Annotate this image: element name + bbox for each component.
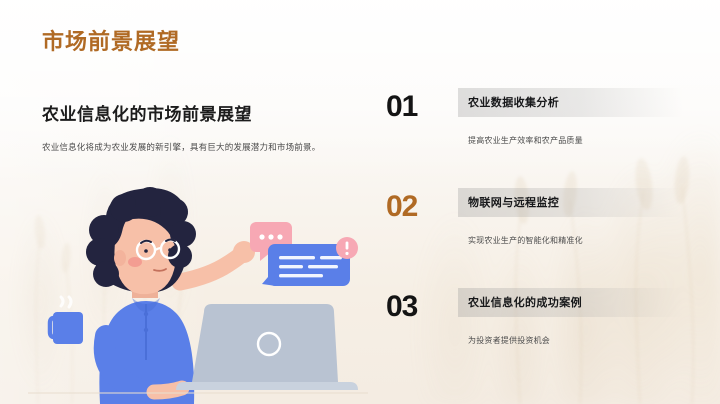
hair-curl <box>93 261 119 287</box>
list-item-title: 农业信息化的成功案例 <box>468 297 582 309</box>
list-item-number: 03 <box>386 292 417 322</box>
list-item[interactable]: 03 农业信息化的成功案例 为投资者提供投资机会 <box>386 288 696 388</box>
lead-description: 农业信息化将成为农业发展的新引擎，具有巨大的发展潜力和市场前景。 <box>42 141 342 155</box>
list-item-title-highlight: 农业数据收集分析 <box>458 88 683 117</box>
shirt-button <box>144 312 148 316</box>
list-item-subtitle: 提高农业生产效率和农产品质量 <box>468 135 696 146</box>
shirt-button <box>144 328 148 332</box>
list-item-number: 01 <box>386 92 417 122</box>
hair-curl <box>170 221 196 247</box>
laptop-icon <box>176 304 358 390</box>
ear <box>114 250 126 266</box>
list-item-title: 物联网与远程监控 <box>468 197 559 209</box>
notification-badge-icon <box>336 237 358 259</box>
list-item-body: 农业信息化的成功案例 为投资者提供投资机会 <box>458 288 696 346</box>
list-item-title-highlight: 物联网与远程监控 <box>458 188 683 217</box>
feature-list: 01 农业数据收集分析 提高农业生产效率和农产品质量 02 物联网与远程监控 实… <box>386 88 696 388</box>
illustration-woman-at-laptop <box>28 186 368 404</box>
list-item[interactable]: 01 农业数据收集分析 提高农业生产效率和农产品质量 <box>386 88 696 188</box>
list-item[interactable]: 02 物联网与远程监控 实现农业生产的智能化和精准化 <box>386 188 696 288</box>
list-item-subtitle: 实现农业生产的智能化和精准化 <box>468 235 696 246</box>
lead-heading: 农业信息化的市场前景展望 <box>42 100 342 125</box>
slide-canvas: 市场前景展望 农业信息化的市场前景展望 农业信息化将成为农业发展的新引擎，具有巨… <box>0 0 720 404</box>
list-item-body: 物联网与远程监控 实现农业生产的智能化和精准化 <box>458 188 696 246</box>
left-content-column: 农业信息化的市场前景展望 农业信息化将成为农业发展的新引擎，具有巨大的发展潜力和… <box>42 100 342 155</box>
list-item-title-highlight: 农业信息化的成功案例 <box>458 288 683 317</box>
list-item-title: 农业数据收集分析 <box>468 97 559 109</box>
hair-curl <box>110 194 138 222</box>
list-item-number: 02 <box>386 192 417 222</box>
list-item-body: 农业数据收集分析 提高农业生产效率和农产品质量 <box>458 88 696 146</box>
coffee-mug-icon <box>50 297 83 344</box>
list-item-subtitle: 为投资者提供投资机会 <box>468 335 696 346</box>
page-title: 市场前景展望 <box>42 24 180 56</box>
